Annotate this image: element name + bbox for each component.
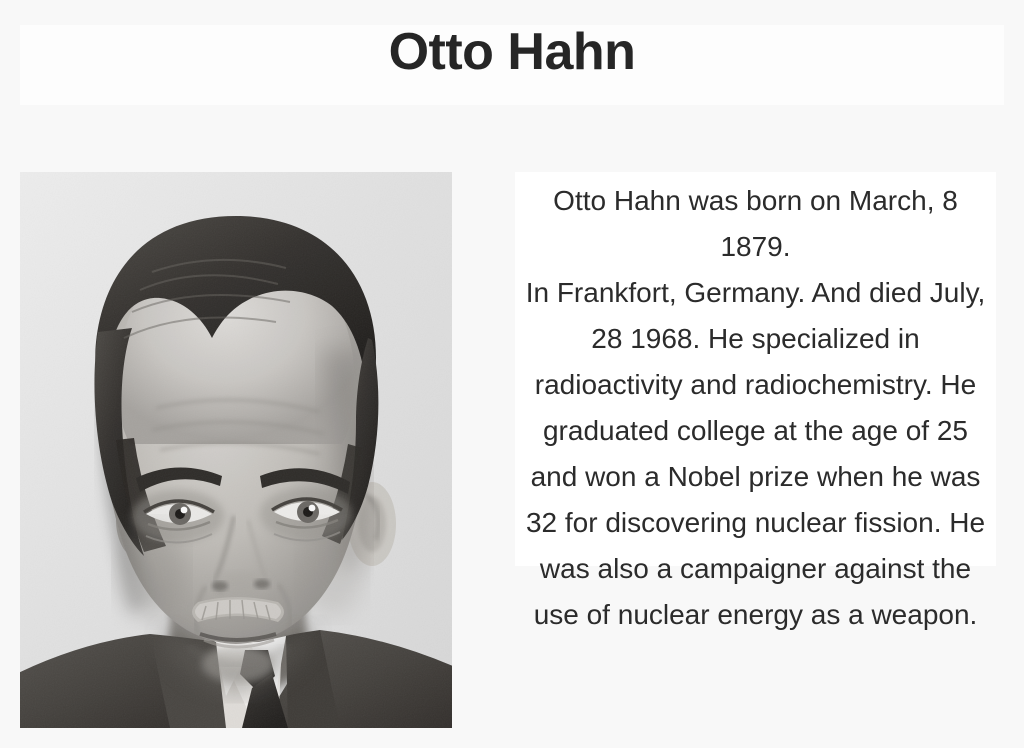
page-title: Otto Hahn	[0, 22, 1024, 82]
portrait-photo-icon	[20, 172, 452, 728]
bio-paragraph: Otto Hahn was born on March, 8 1879. In …	[517, 178, 994, 638]
slide-canvas: Otto Hahn	[0, 0, 1024, 748]
portrait-image	[20, 172, 452, 728]
